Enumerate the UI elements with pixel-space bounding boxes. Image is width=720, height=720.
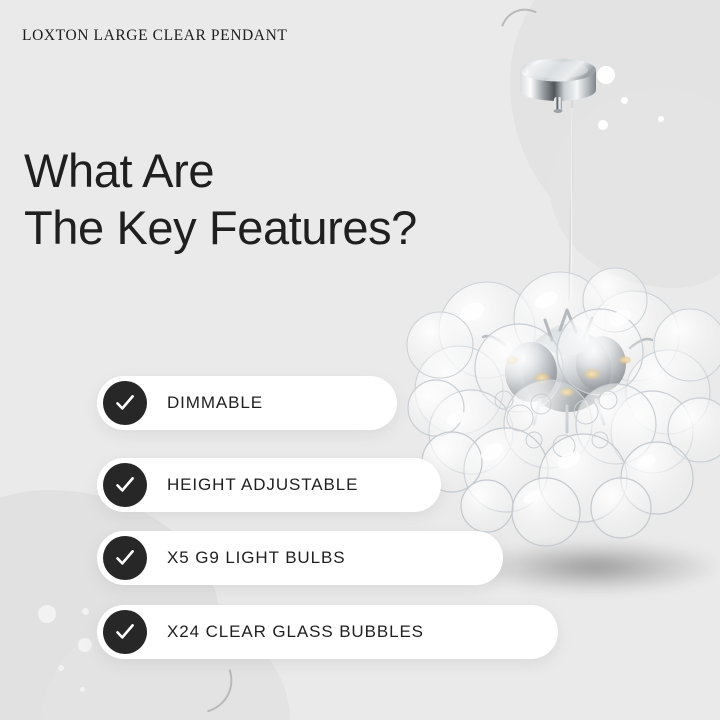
check-icon [103,610,147,654]
decor-dot-2 [621,97,628,104]
decor-dot-7 [82,608,89,615]
feature-pill-dimmable[interactable]: DIMMABLE [97,376,397,430]
product-drop-shadow [470,540,720,594]
poster-canvas: LOXTON LARGE CLEAR PENDANT What Are The … [0,0,720,720]
decor-blob-top-right-secondary [550,88,720,288]
feature-label: X5 G9 LIGHT BULBS [167,548,345,568]
feature-pill-glass-bubbles[interactable]: X24 CLEAR GLASS BUBBLES [97,605,558,659]
page-title-line-2: The Key Features? [24,199,417,256]
decor-dot-1 [597,66,615,84]
decor-dot-6 [78,638,92,652]
decor-dot-4 [658,116,664,122]
feature-label: HEIGHT ADJUSTABLE [167,475,358,495]
product-name-label: LOXTON LARGE CLEAR PENDANT [22,27,287,45]
feature-label: X24 CLEAR GLASS BUBBLES [167,622,424,642]
check-icon [103,536,147,580]
check-icon [103,463,147,507]
page-title: What Are The Key Features? [24,142,417,256]
page-title-line-1: What Are [24,142,417,199]
decor-arc-top [490,0,567,82]
decor-dot-3 [598,120,608,130]
feature-label: DIMMABLE [167,393,263,413]
feature-pill-light-bulbs[interactable]: X5 G9 LIGHT BULBS [97,531,503,585]
feature-pill-height-adjustable[interactable]: HEIGHT ADJUSTABLE [97,458,441,512]
check-icon [103,381,147,425]
decor-dot-9 [80,687,85,692]
decor-blob-top-right [510,0,720,260]
decor-dot-8 [58,665,64,671]
decor-dot-5 [38,605,56,623]
